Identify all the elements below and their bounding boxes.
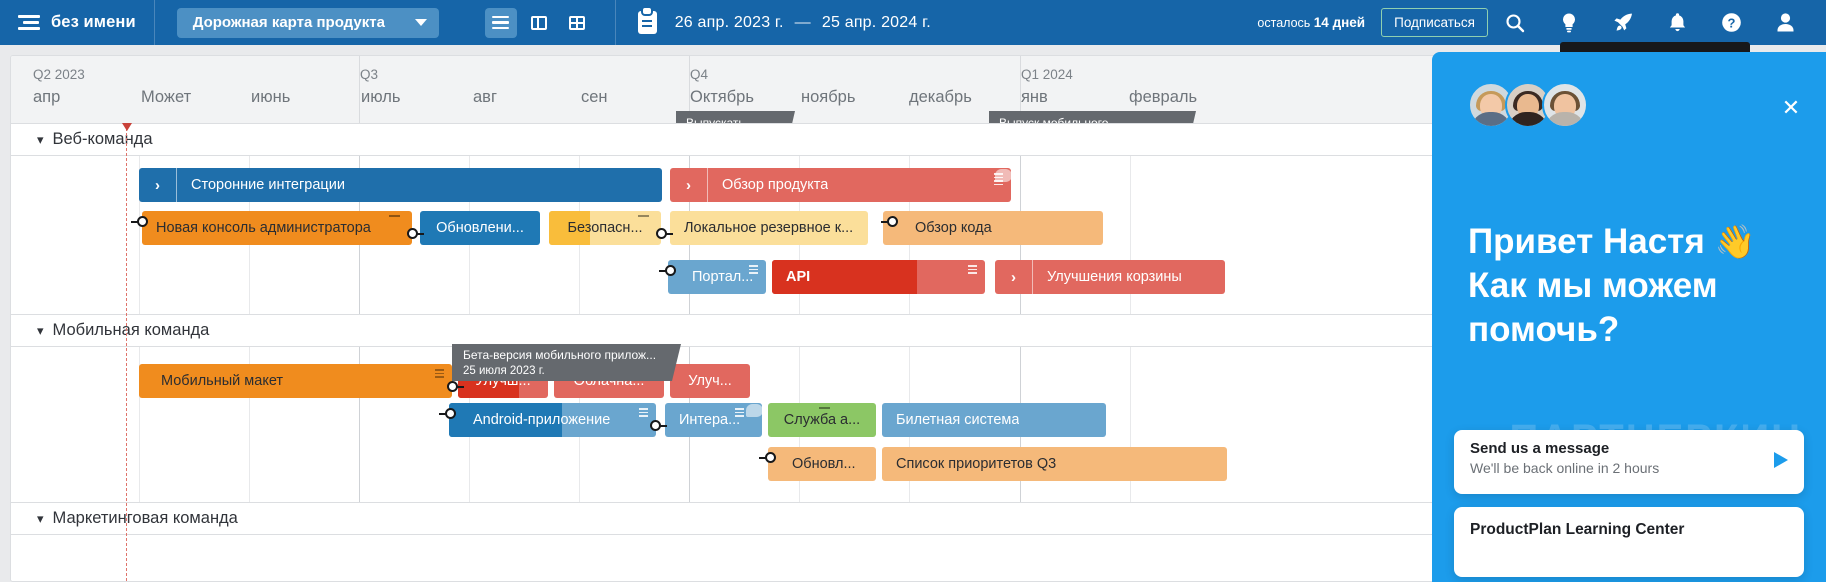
brand-block[interactable]: без имени <box>0 0 155 45</box>
connector-stub-icon <box>457 386 464 388</box>
connector-stub-icon <box>881 221 888 223</box>
bar-label: Сторонние интеграции <box>177 177 345 193</box>
clipboard-icon[interactable] <box>638 11 657 34</box>
month-label: декабрь <box>909 88 972 107</box>
grid-icon <box>569 16 585 30</box>
month-label: Октябрь <box>690 88 754 107</box>
learning-center-title: ProductPlan Learning Center <box>1470 521 1788 539</box>
project-selector[interactable]: Дорожная карта продукта <box>177 8 439 38</box>
month-label: авг <box>473 88 497 107</box>
connector-stub-icon <box>417 233 424 235</box>
connector-stub-icon <box>759 457 766 459</box>
bar-tooltip: Бета-версия мобильного прилож... 25 июля… <box>452 344 672 381</box>
view-grid-button[interactable] <box>561 8 593 38</box>
bar-item[interactable]: Обновл... <box>768 447 876 481</box>
bar-label: Улучшения корзины <box>1033 269 1182 285</box>
top-navigation-bar: без имени Дорожная карта продукта 26 апр… <box>0 0 1826 45</box>
drag-handle-icon[interactable] <box>735 408 744 420</box>
bar-label: Локальное резервное к... <box>670 220 853 236</box>
search-icon[interactable] <box>1488 0 1542 45</box>
bar-label: Android-приложение <box>449 412 610 428</box>
bar-item[interactable]: API <box>772 260 985 294</box>
rocket-icon[interactable] <box>1596 0 1650 45</box>
month-label: сен <box>581 88 608 107</box>
bar-item[interactable]: Улуч... <box>670 364 750 398</box>
lines-icon <box>492 16 509 29</box>
bar-item[interactable]: › Сторонние интеграции <box>139 168 662 202</box>
bar-item[interactable]: Мобильный макет <box>139 364 452 398</box>
month-label: апр <box>33 88 60 107</box>
chat-greeting: Привет Настя 👋 Как мы можем помочь? <box>1468 220 1788 352</box>
workspace-name: без имени <box>51 13 136 32</box>
bar-item[interactable]: Служба а... <box>768 403 876 437</box>
chat-widget: ✕ Привет Настя 👋 Как мы можем помочь? ПА… <box>1432 52 1826 582</box>
view-switcher <box>485 8 593 38</box>
bar-item[interactable]: Новая консоль администратора <box>142 211 412 245</box>
bar-label: Новая консоль администратора <box>142 220 371 236</box>
connector-stub-icon <box>131 221 138 223</box>
comment-bubble-icon[interactable] <box>995 169 1011 182</box>
quarter-label: Q2 2023 <box>33 67 85 82</box>
wave-hand-icon: 👋 <box>1714 223 1755 260</box>
chat-greeting-line1: Привет Настя <box>1468 222 1705 261</box>
bar-item[interactable]: Обновлени... <box>420 211 540 245</box>
drag-handle-icon[interactable] <box>435 369 444 381</box>
swimlane-label: Мобильная команда <box>53 321 210 340</box>
send-message-title: Send us a message <box>1470 440 1788 457</box>
connector-stub-icon <box>439 413 446 415</box>
month-label: ноябрь <box>801 88 855 107</box>
today-marker <box>126 123 127 581</box>
bar-item[interactable]: Интера... <box>665 403 762 437</box>
bar-item[interactable]: Обзор кода <box>883 211 1103 245</box>
month-label: янв <box>1021 88 1048 107</box>
lightbulb-icon[interactable] <box>1542 0 1596 45</box>
bar-label: Интера... <box>665 412 740 428</box>
help-icon[interactable]: ? <box>1704 0 1758 45</box>
date-range-dash: — <box>784 14 822 31</box>
trial-days: 14 дней <box>1314 15 1365 30</box>
comment-bubble-icon[interactable] <box>746 404 762 417</box>
view-columns-button[interactable] <box>523 8 555 38</box>
chevron-down-icon: ▾ <box>37 132 44 148</box>
trial-status: осталось 14 дней <box>1257 15 1365 30</box>
collapse-dash-icon <box>819 407 830 409</box>
connector-node-icon[interactable] <box>765 452 776 463</box>
top-bar-right: осталось 14 дней Подписаться ? <box>1257 0 1826 45</box>
chat-agent-avatars <box>1468 82 1579 128</box>
bar-label: Обновл... <box>768 456 856 472</box>
svg-text:?: ? <box>1727 15 1735 30</box>
expand-chevron-icon[interactable]: › <box>139 168 177 202</box>
connector-node-icon[interactable] <box>665 265 676 276</box>
tooltip-title: Бета-версия мобильного прилож... <box>463 347 661 363</box>
bar-item[interactable]: Список приоритетов Q3 <box>882 447 1227 481</box>
connector-stub-icon <box>666 233 673 235</box>
bell-icon[interactable] <box>1650 0 1704 45</box>
learning-center-card[interactable]: ProductPlan Learning Center <box>1454 507 1804 577</box>
trial-prefix: осталось <box>1257 16 1313 30</box>
swimlane-label: Веб-команда <box>53 130 153 149</box>
quarter-label: Q4 <box>690 67 708 82</box>
send-message-subtitle: We'll be back online in 2 hours <box>1470 460 1788 476</box>
subscribe-button[interactable]: Подписаться <box>1381 8 1488 37</box>
view-list-button[interactable] <box>485 8 517 38</box>
date-range-start: 26 апр. 2023 г. <box>675 14 784 31</box>
tooltip-date: 25 июля 2023 г. <box>463 363 661 379</box>
bar-label: Обновлени... <box>436 220 524 236</box>
avatar <box>1542 82 1588 128</box>
send-icon[interactable] <box>1774 452 1788 468</box>
bar-item[interactable]: › Обзор продукта <box>670 168 1011 202</box>
bar-label: API <box>772 269 810 285</box>
expand-chevron-icon[interactable]: › <box>670 168 708 202</box>
month-label: июль <box>361 88 400 107</box>
connector-node-icon[interactable] <box>445 408 456 419</box>
date-range-end: 25 апр. 2024 г. <box>822 14 931 31</box>
close-icon[interactable]: ✕ <box>1778 96 1804 122</box>
drag-handle-icon[interactable] <box>639 408 648 420</box>
app-logo-icon <box>18 14 40 32</box>
collapse-dash-icon <box>638 215 649 217</box>
month-label: июнь <box>251 88 290 107</box>
connector-node-icon[interactable] <box>137 216 148 227</box>
app-root: без имени Дорожная карта продукта 26 апр… <box>0 0 1826 582</box>
send-message-card[interactable]: Send us a message We'll be back online i… <box>1454 430 1804 494</box>
bar-label: Обзор кода <box>883 220 992 236</box>
chevron-down-icon: ▾ <box>37 323 44 339</box>
drag-handle-icon[interactable] <box>749 265 758 277</box>
bar-label: Портал... <box>668 269 753 285</box>
chat-greeting-line2: Как мы можем <box>1468 266 1718 305</box>
bar-label: Обзор продукта <box>708 177 828 193</box>
connector-stub-icon <box>660 425 667 427</box>
month-label: февраль <box>1129 88 1197 107</box>
bar-item[interactable]: › Улучшения корзины <box>995 260 1225 294</box>
drag-handle-icon[interactable] <box>968 265 977 277</box>
date-range[interactable]: 26 апр. 2023 г.—25 апр. 2024 г. <box>675 14 931 32</box>
bar-item[interactable]: Android-приложение <box>449 403 656 437</box>
project-selector-label: Дорожная карта продукта <box>193 14 385 31</box>
bar-label: Улуч... <box>688 373 732 389</box>
chevron-down-icon: ▾ <box>37 511 44 527</box>
chat-greeting-line3: помочь? <box>1468 310 1619 349</box>
bar-item[interactable]: Билетная система <box>882 403 1106 437</box>
quarter-label: Q3 <box>360 67 378 82</box>
bar-label: Безопасн... <box>567 220 642 236</box>
today-triangle-icon <box>122 123 132 131</box>
user-icon[interactable] <box>1758 0 1812 45</box>
bar-label: Билетная система <box>882 412 1019 428</box>
columns-icon <box>531 16 547 30</box>
month-label: Может <box>141 88 191 107</box>
expand-chevron-icon[interactable]: › <box>995 260 1033 294</box>
connector-node-icon[interactable] <box>887 216 898 227</box>
connector-stub-icon <box>659 270 666 272</box>
bar-label: Служба а... <box>784 412 860 428</box>
bar-item[interactable]: Локальное резервное к... <box>670 211 868 245</box>
chevron-down-icon <box>415 19 427 26</box>
quarter-label: Q1 2024 <box>1021 67 1073 82</box>
bar-item[interactable]: Безопасн... <box>549 211 661 245</box>
bar-label: Мобильный макет <box>139 373 283 389</box>
collapse-dash-icon <box>389 215 400 217</box>
bar-item[interactable]: Портал... <box>668 260 766 294</box>
swimlane-label: Маркетинговая команда <box>53 509 238 528</box>
nav-divider <box>615 0 616 45</box>
bar-label: Список приоритетов Q3 <box>882 456 1056 472</box>
